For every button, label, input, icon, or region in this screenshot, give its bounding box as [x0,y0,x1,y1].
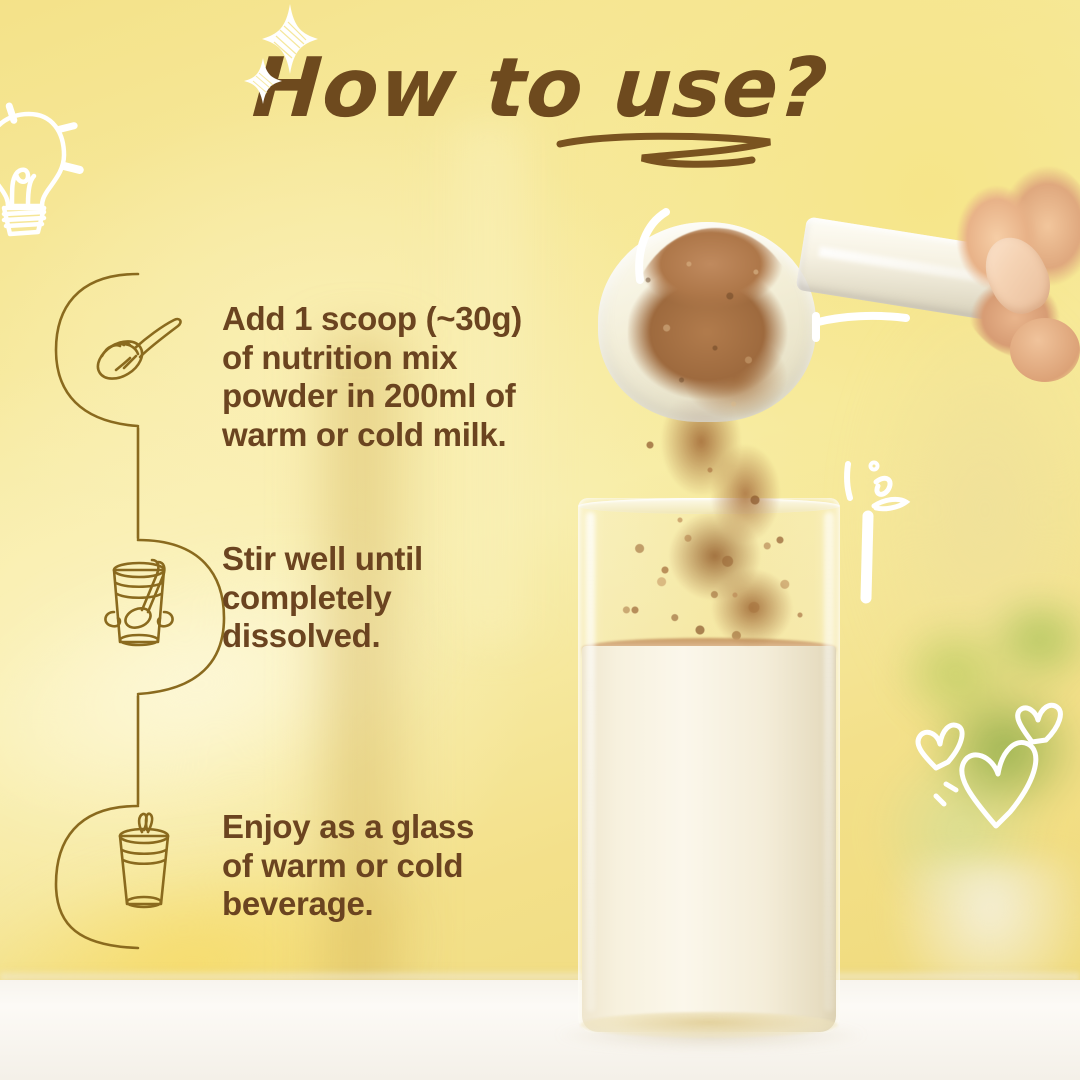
falling-powder [640,400,810,660]
steps-list: Add 1 scoop (~30g) of nutrition mix powd… [0,0,600,1080]
powder-inside-glass [600,528,820,656]
hearts-doodle-icon [900,700,1080,840]
poster-canvas: How to use? [0,0,1080,1080]
step-text-2: Stir well until completely dissolved. [222,540,542,656]
falling-powder-specks [600,420,850,670]
scoop-handle [796,216,1035,325]
white-accent-flicks [836,458,946,608]
glass-rim [578,498,840,514]
step-text-1: Add 1 scoop (~30g) of nutrition mix powd… [222,300,582,454]
hand [952,158,1080,358]
white-accent-stroke [630,206,720,316]
thumb-nail [974,227,1060,323]
scoop-handle-highlight [818,246,1017,287]
finger [1010,318,1080,382]
glass-of-milk [578,498,840,1033]
glass-with-spoon-stirring-icon [96,550,184,650]
glass-highlight-right [824,512,834,1012]
step-text-3: Enjoy as a glass of warm or cold beverag… [222,808,542,924]
milk-surface [582,638,836,658]
glass-of-beverage-icon [104,810,184,910]
spoon-with-powder-icon [88,300,184,396]
white-accent-arrow [812,312,912,352]
